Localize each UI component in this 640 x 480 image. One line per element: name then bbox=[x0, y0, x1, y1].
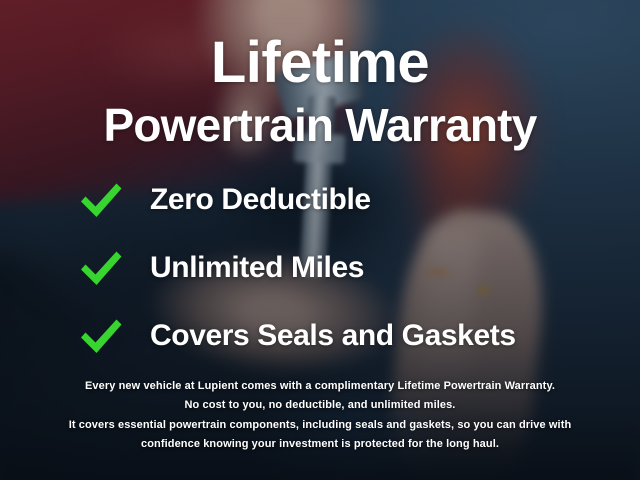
lifetime-powertrain-warranty-banner: Lifetime Powertrain Warranty Zero Deduct… bbox=[0, 0, 640, 480]
description-paragraph: Every new vehicle at Lupient comes with … bbox=[0, 377, 640, 454]
feature-item-zero-deductible: Zero Deductible bbox=[78, 180, 371, 220]
check-icon bbox=[78, 248, 124, 288]
description-line-1: Every new vehicle at Lupient comes with … bbox=[26, 377, 614, 396]
feature-label: Covers Seals and Gaskets bbox=[150, 319, 516, 353]
headline-line-2: Powertrain Warranty bbox=[0, 102, 640, 148]
feature-label: Unlimited Miles bbox=[150, 251, 364, 285]
description-line-2: No cost to you, no deductible, and unlim… bbox=[26, 396, 614, 415]
headline-line-1: Lifetime bbox=[0, 34, 640, 92]
feature-item-covers-seals-and-gaskets: Covers Seals and Gaskets bbox=[78, 316, 516, 356]
feature-label: Zero Deductible bbox=[150, 183, 371, 217]
check-icon bbox=[78, 316, 124, 356]
description-line-3: It covers essential powertrain component… bbox=[26, 416, 614, 435]
check-icon bbox=[78, 180, 124, 220]
banner-content: Lifetime Powertrain Warranty Zero Deduct… bbox=[0, 0, 640, 480]
feature-item-unlimited-miles: Unlimited Miles bbox=[78, 248, 364, 288]
description-line-4: confidence knowing your investment is pr… bbox=[26, 435, 614, 454]
feature-list: Zero Deductible Unlimited Miles Covers S… bbox=[0, 180, 640, 356]
